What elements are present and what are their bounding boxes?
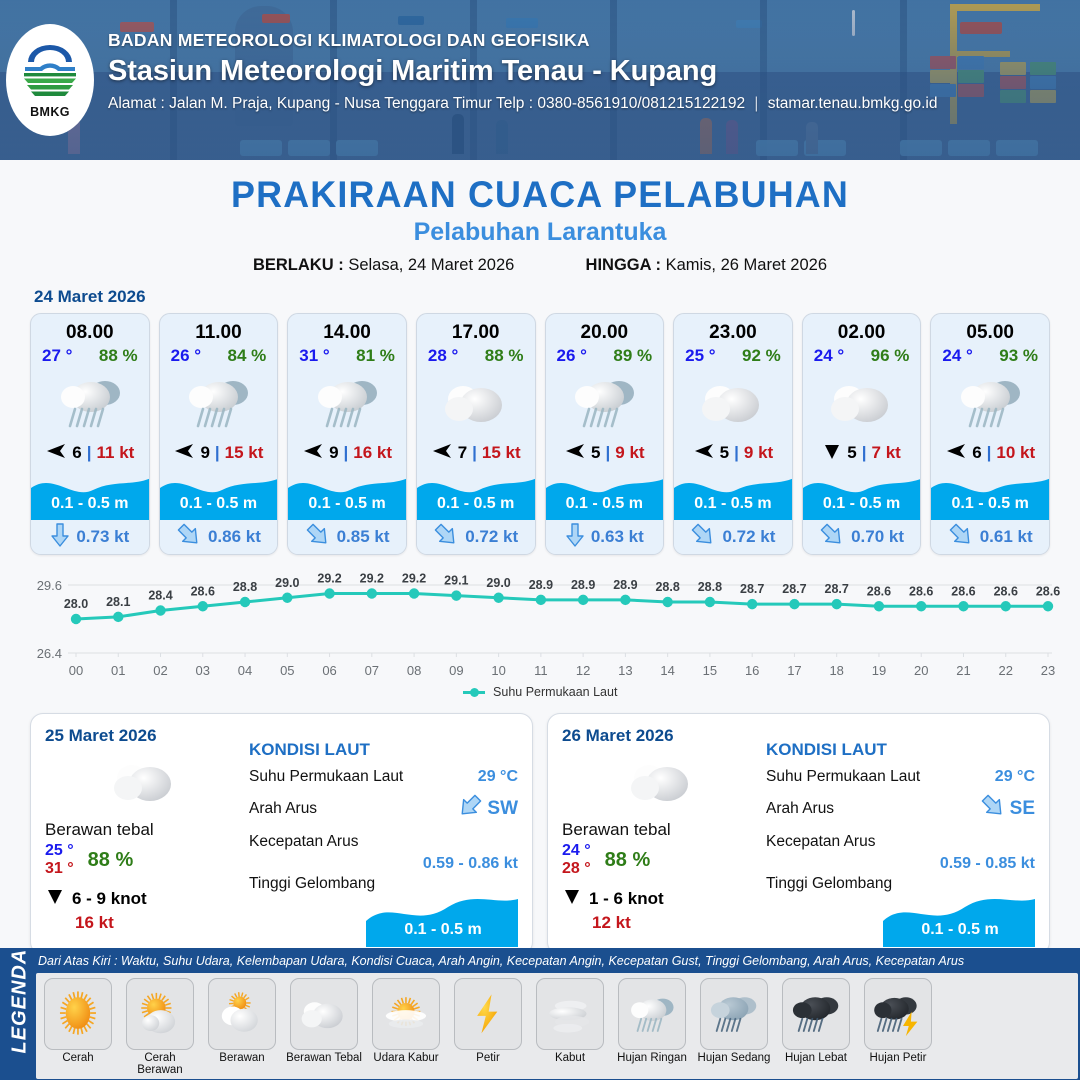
sst-chart: 29.626.428.00028.10128.40228.60328.80429… [18, 565, 1062, 683]
weather-rain-light-icon [546, 368, 664, 436]
card-humidity: 88 % [99, 346, 138, 366]
legend-item: Petir [449, 978, 527, 1076]
station-name: Stasiun Meteorologi Maritim Tenau - Kupa… [108, 55, 937, 88]
gust-speed: 7 kt [872, 443, 901, 463]
wind-direction-arrow-icon [693, 441, 715, 465]
svg-text:28.8: 28.8 [233, 580, 257, 594]
svg-text:28.4: 28.4 [148, 589, 172, 603]
wave-height-label: Tinggi Gelombang [766, 875, 892, 893]
port-name: Pelabuhan Larantuka [0, 218, 1080, 247]
sst-value: 29 °C [995, 768, 1035, 786]
wave-height-value: 0.1 - 0.5 m [885, 921, 1035, 939]
legend-item: Cerah Berawan [121, 978, 199, 1076]
wind-speed: 5 [591, 443, 600, 463]
svg-text:16: 16 [745, 663, 759, 678]
current-speed-label: Kecepatan Arus [766, 833, 875, 851]
current-speed: 0.72 kt [465, 527, 518, 547]
svg-text:29.6: 29.6 [37, 578, 62, 593]
svg-text:29.0: 29.0 [486, 576, 510, 590]
hingga-label: HINGGA : [586, 256, 661, 274]
bmkg-logo-mark [22, 42, 78, 104]
legend-item: Hujan Petir [859, 978, 937, 1076]
svg-text:28.8: 28.8 [698, 580, 722, 594]
wave-height-block: 0.1 - 0.5 m [249, 895, 518, 947]
weather-rain-heavy-icon [782, 978, 850, 1050]
wind-direction-arrow-icon [45, 441, 67, 465]
weather-cloudy-icon [803, 368, 921, 436]
forecast-card[interactable]: 02.00 24 ° 96 % 5 | 7 kt 0.1 - 0.5 m 0.7… [802, 313, 922, 555]
day-gust: 16 kt [75, 913, 245, 933]
wind-speed: 7 [458, 443, 467, 463]
chart-legend: Suhu Permukaan Laut [0, 685, 1080, 699]
card-time: 05.00 [931, 314, 1049, 344]
hingga-value: Kamis, 26 Maret 2026 [666, 256, 827, 274]
svg-text:05: 05 [280, 663, 294, 678]
forecast-card[interactable]: 05.00 24 ° 93 % 6 | 10 kt 0.1 - 0.5 m 0.… [930, 313, 1050, 555]
svg-text:28.1: 28.1 [106, 595, 130, 609]
card-humidity: 93 % [999, 346, 1038, 366]
svg-text:28.0: 28.0 [64, 597, 88, 611]
forecast-card-row: 08.00 27 ° 88 % 6 | 11 kt 0.1 - 0.5 m 0.… [0, 313, 1080, 555]
sst-label: Suhu Permukaan Laut [766, 768, 920, 786]
svg-text:10: 10 [491, 663, 505, 678]
address-text: Alamat : Jalan M. Praja, Kupang - Nusa T… [108, 95, 745, 112]
weather-cloudy-thick-icon [562, 750, 762, 812]
day-condition: Berawan tebal [562, 820, 762, 840]
svg-text:20: 20 [914, 663, 928, 678]
legend-side-label: LEGENDA [0, 948, 36, 1080]
wind-direction-arrow-icon [431, 441, 453, 465]
weather-rain-light-icon [160, 368, 278, 436]
chart-legend-label: Suhu Permukaan Laut [493, 685, 617, 699]
validity-row: BERLAKU : Selasa, 24 Maret 2026 HINGGA :… [0, 256, 1080, 275]
current-direction-arrow-icon [50, 522, 70, 553]
weather-haze-icon [372, 978, 440, 1050]
card-temperature: 26 ° [171, 346, 201, 366]
legend-note: Dari Atas Kiri : Waktu, Suhu Udara, Kele… [36, 948, 1078, 973]
svg-text:14: 14 [660, 663, 674, 678]
wave-height-block: 0.1 - 0.5 m [803, 470, 921, 520]
wind-separator: | [472, 443, 477, 463]
day-condition: Berawan tebal [45, 820, 245, 840]
svg-text:29.0: 29.0 [275, 576, 299, 590]
wind-speed: 9 [200, 443, 209, 463]
wind-direction-arrow-icon [562, 886, 582, 911]
wave-height-value: 0.1 - 0.5 m [546, 495, 664, 513]
weather-rain-thunder-icon [864, 978, 932, 1050]
website-text: stamar.tenau.bmkg.go.id [768, 95, 938, 112]
svg-text:29.2: 29.2 [360, 572, 384, 586]
svg-text:26.4: 26.4 [37, 646, 62, 661]
day-gust: 12 kt [592, 913, 762, 933]
card-humidity: 81 % [356, 346, 395, 366]
wind-speed: 5 [847, 443, 856, 463]
current-direction-arrow-icon [948, 523, 974, 552]
wind-direction-arrow-icon [45, 886, 65, 911]
svg-text:28.9: 28.9 [613, 578, 637, 592]
day-date: 26 Maret 2026 [562, 726, 762, 746]
card-time: 20.00 [546, 314, 664, 344]
forecast-card[interactable]: 14.00 31 ° 81 % 9 | 16 kt 0.1 - 0.5 m 0.… [287, 313, 407, 555]
gust-speed: 9 kt [615, 443, 644, 463]
current-direction-arrow-icon [457, 794, 483, 823]
svg-text:19: 19 [872, 663, 886, 678]
legend-item-label: Berawan [203, 1052, 281, 1064]
wave-height-block: 0.1 - 0.5 m [31, 470, 149, 520]
svg-text:28.6: 28.6 [191, 584, 215, 598]
legend-item-label: Kabut [531, 1052, 609, 1064]
wave-height-block: 0.1 - 0.5 m [417, 470, 535, 520]
legend-bar: LEGENDA Dari Atas Kiri : Waktu, Suhu Uda… [0, 948, 1080, 1080]
daily-summary-panel[interactable]: 25 Maret 2026 Berawan tebal 25 ° 31 ° 88… [30, 713, 533, 955]
svg-text:09: 09 [449, 663, 463, 678]
current-speed: 0.63 kt [591, 527, 644, 547]
weather-fog-icon [536, 978, 604, 1050]
legend-item-label: Petir [449, 1052, 527, 1064]
weather-rain-light-icon [288, 368, 406, 436]
legend-item: Cerah [39, 978, 117, 1076]
address-line: Alamat : Jalan M. Praja, Kupang - Nusa T… [108, 95, 937, 113]
card-time: 17.00 [417, 314, 535, 344]
page-header: BMKG BADAN METEOROLOGI KLIMATOLOGI DAN G… [0, 0, 1080, 160]
current-direction-label: Arah Arus [249, 800, 317, 818]
svg-text:03: 03 [196, 663, 210, 678]
legend-item-label: Hujan Petir [859, 1052, 937, 1064]
wind-speed: 6 [972, 443, 981, 463]
sea-conditions-title: KONDISI LAUT [766, 740, 1035, 760]
wind-separator: | [215, 443, 220, 463]
wave-height-value: 0.1 - 0.5 m [288, 495, 406, 513]
day-temp-min: 25 ° [45, 842, 74, 860]
weather-rain-medium-icon [700, 978, 768, 1050]
svg-text:01: 01 [111, 663, 125, 678]
current-direction-value: SE [1010, 798, 1035, 820]
wind-direction-arrow-icon [302, 441, 324, 465]
current-speed: 0.73 kt [76, 527, 129, 547]
day-humidity: 88 % [605, 849, 651, 872]
card-humidity: 88 % [485, 346, 524, 366]
card-time: 23.00 [674, 314, 792, 344]
svg-text:28.6: 28.6 [1036, 584, 1060, 598]
legend-icon-row: Cerah Cerah Berawan Berawan Berawan Teba… [36, 973, 1078, 1079]
current-direction-value: SW [487, 798, 518, 820]
wave-height-block: 0.1 - 0.5 m [674, 470, 792, 520]
svg-text:06: 06 [322, 663, 336, 678]
day-temp-max: 31 ° [45, 860, 74, 878]
weather-sun-cloud-icon [126, 978, 194, 1050]
wave-height-label: Tinggi Gelombang [249, 875, 375, 893]
wind-direction-arrow-icon [822, 441, 842, 465]
gust-speed: 11 kt [97, 443, 135, 463]
header-text-block: BADAN METEOROLOGI KLIMATOLOGI DAN GEOFIS… [108, 30, 937, 113]
wave-height-value: 0.1 - 0.5 m [368, 921, 518, 939]
legend-item-label: Hujan Lebat [777, 1052, 855, 1064]
forecast-card[interactable]: 08.00 27 ° 88 % 6 | 11 kt 0.1 - 0.5 m 0.… [30, 313, 150, 555]
current-direction-arrow-icon [980, 794, 1006, 823]
svg-text:28.9: 28.9 [529, 578, 553, 592]
svg-text:04: 04 [238, 663, 252, 678]
card-temperature: 24 ° [942, 346, 972, 366]
legend-item: Kabut [531, 978, 609, 1076]
card-time: 14.00 [288, 314, 406, 344]
wind-direction-arrow-icon [173, 441, 195, 465]
weather-sun-icon [44, 978, 112, 1050]
day-wind-range: 1 - 6 knot [589, 889, 664, 909]
daily-summary-row: 25 Maret 2026 Berawan tebal 25 ° 31 ° 88… [0, 699, 1080, 955]
svg-text:13: 13 [618, 663, 632, 678]
card-humidity: 92 % [742, 346, 781, 366]
card-temperature: 28 ° [428, 346, 458, 366]
wave-height-value: 0.1 - 0.5 m [31, 495, 149, 513]
sst-label: Suhu Permukaan Laut [249, 768, 403, 786]
svg-text:28.7: 28.7 [740, 582, 764, 596]
card-time: 02.00 [803, 314, 921, 344]
wind-separator: | [344, 443, 349, 463]
card-temperature: 31 ° [299, 346, 329, 366]
gust-speed: 10 kt [996, 443, 1035, 463]
card-temperature: 26 ° [557, 346, 587, 366]
svg-text:07: 07 [365, 663, 379, 678]
current-speed: 0.85 kt [337, 527, 390, 547]
berlaku-value: Selasa, 24 Maret 2026 [348, 256, 514, 274]
wind-separator: | [606, 443, 611, 463]
current-direction-label: Arah Arus [766, 800, 834, 818]
legend-item: Hujan Lebat [777, 978, 855, 1076]
legend-item-label: Cerah Berawan [121, 1052, 199, 1076]
legend-item: Berawan [203, 978, 281, 1076]
svg-text:22: 22 [999, 663, 1013, 678]
forecast-date: 24 Maret 2026 [34, 287, 1080, 307]
wind-direction-arrow-icon [564, 441, 586, 465]
svg-text:29.2: 29.2 [402, 572, 426, 586]
forecast-card[interactable]: 17.00 28 ° 88 % 7 | 15 kt 0.1 - 0.5 m 0.… [416, 313, 536, 555]
svg-text:23: 23 [1041, 663, 1055, 678]
forecast-card[interactable]: 20.00 26 ° 89 % 5 | 9 kt 0.1 - 0.5 m 0.6… [545, 313, 665, 555]
wind-direction-arrow-icon [945, 441, 967, 465]
wind-speed: 5 [720, 443, 729, 463]
legend-item-label: Udara Kabur [367, 1052, 445, 1064]
svg-text:17: 17 [787, 663, 801, 678]
svg-text:28.6: 28.6 [909, 584, 933, 598]
wind-speed: 6 [72, 443, 81, 463]
current-speed: 0.70 kt [851, 527, 904, 547]
current-direction-arrow-icon [433, 523, 459, 552]
wave-height-value: 0.1 - 0.5 m [160, 495, 278, 513]
day-date: 25 Maret 2026 [45, 726, 245, 746]
card-temperature: 24 ° [814, 346, 844, 366]
bmkg-logo: BMKG [6, 24, 94, 136]
card-temperature: 27 ° [42, 346, 72, 366]
current-speed-value: 0.59 - 0.86 kt [249, 855, 518, 873]
legend-item: Hujan Sedang [695, 978, 773, 1076]
sst-value: 29 °C [478, 768, 518, 786]
svg-text:28.6: 28.6 [994, 584, 1018, 598]
legend-item-label: Hujan Sedang [695, 1052, 773, 1064]
svg-text:28.9: 28.9 [571, 578, 595, 592]
weather-cloudy-icon [674, 368, 792, 436]
gust-speed: 16 kt [353, 443, 392, 463]
card-humidity: 89 % [613, 346, 652, 366]
svg-text:11: 11 [534, 663, 548, 678]
chart-legend-swatch [463, 691, 485, 694]
card-humidity: 84 % [228, 346, 267, 366]
current-direction-arrow-icon [690, 523, 716, 552]
gust-speed: 15 kt [225, 443, 264, 463]
current-direction-arrow-icon [305, 523, 331, 552]
svg-text:29.2: 29.2 [317, 572, 341, 586]
svg-text:02: 02 [153, 663, 167, 678]
wave-height-block: 0.1 - 0.5 m [546, 470, 664, 520]
agency-name: BADAN METEOROLOGI KLIMATOLOGI DAN GEOFIS… [108, 30, 937, 51]
forecast-card[interactable]: 23.00 25 ° 92 % 5 | 9 kt 0.1 - 0.5 m 0.7… [673, 313, 793, 555]
weather-cloudy-thick-icon [45, 750, 245, 812]
wave-height-block: 0.1 - 0.5 m [288, 470, 406, 520]
current-speed: 0.86 kt [208, 527, 261, 547]
weather-rain-light-icon [618, 978, 686, 1050]
page-title: PRAKIRAAN CUACA PELABUHAN [16, 174, 1064, 216]
legend-item: Hujan Ringan [613, 978, 691, 1076]
weather-lightning-icon [454, 978, 522, 1050]
svg-text:28.6: 28.6 [867, 584, 891, 598]
svg-text:28.7: 28.7 [782, 582, 806, 596]
wind-separator: | [862, 443, 867, 463]
wind-speed: 9 [329, 443, 338, 463]
current-speed: 0.61 kt [980, 527, 1033, 547]
card-time: 11.00 [160, 314, 278, 344]
day-temp-min: 24 ° [562, 842, 591, 860]
wind-separator: | [734, 443, 739, 463]
berlaku-label: BERLAKU : [253, 256, 344, 274]
current-direction-arrow-icon [176, 523, 202, 552]
svg-text:28.8: 28.8 [655, 580, 679, 594]
wind-separator: | [987, 443, 992, 463]
day-temp-max: 28 ° [562, 860, 591, 878]
wave-height-value: 0.1 - 0.5 m [674, 495, 792, 513]
weather-cloud-thick-icon [290, 978, 358, 1050]
svg-text:21: 21 [956, 663, 970, 678]
weather-cloudy-icon [417, 368, 535, 436]
legend-item: Berawan Tebal [285, 978, 363, 1076]
weather-rain-light-icon [31, 368, 149, 436]
legend-item-label: Cerah [39, 1052, 117, 1064]
forecast-card[interactable]: 11.00 26 ° 84 % 9 | 15 kt 0.1 - 0.5 m 0.… [159, 313, 279, 555]
sea-conditions-title: KONDISI LAUT [249, 740, 518, 760]
card-humidity: 96 % [871, 346, 910, 366]
wave-height-value: 0.1 - 0.5 m [803, 495, 921, 513]
gust-speed: 9 kt [744, 443, 773, 463]
svg-text:28.7: 28.7 [825, 582, 849, 596]
svg-text:15: 15 [703, 663, 717, 678]
current-speed-label: Kecepatan Arus [249, 833, 358, 851]
card-temperature: 25 ° [685, 346, 715, 366]
legend-item: Udara Kabur [367, 978, 445, 1076]
daily-summary-panel[interactable]: 26 Maret 2026 Berawan tebal 24 ° 28 ° 88… [547, 713, 1050, 955]
wave-height-value: 0.1 - 0.5 m [931, 495, 1049, 513]
weather-cloud-sun-small-icon [208, 978, 276, 1050]
gust-speed: 15 kt [482, 443, 521, 463]
wave-height-block: 0.1 - 0.5 m [931, 470, 1049, 520]
wave-height-block: 0.1 - 0.5 m [160, 470, 278, 520]
day-humidity: 88 % [88, 849, 134, 872]
wave-height-block: 0.1 - 0.5 m [766, 895, 1035, 947]
legend-item-label: Hujan Ringan [613, 1052, 691, 1064]
weather-rain-light-icon [931, 368, 1049, 436]
svg-text:18: 18 [829, 663, 843, 678]
title-section: PRAKIRAAN CUACA PELABUHAN Pelabuhan Lara… [0, 160, 1080, 275]
current-speed-value: 0.59 - 0.85 kt [766, 855, 1035, 873]
svg-text:00: 00 [69, 663, 83, 678]
card-time: 08.00 [31, 314, 149, 344]
bmkg-logo-text: BMKG [30, 105, 70, 119]
current-direction-arrow-icon [565, 522, 585, 553]
svg-text:29.1: 29.1 [444, 574, 468, 588]
wind-separator: | [87, 443, 92, 463]
address-separator: | [749, 95, 763, 112]
current-speed: 0.72 kt [722, 527, 775, 547]
svg-text:28.6: 28.6 [951, 584, 975, 598]
svg-text:12: 12 [576, 663, 590, 678]
legend-item-label: Berawan Tebal [285, 1052, 363, 1064]
current-direction-arrow-icon [819, 523, 845, 552]
day-wind-range: 6 - 9 knot [72, 889, 147, 909]
svg-text:08: 08 [407, 663, 421, 678]
wave-height-value: 0.1 - 0.5 m [417, 495, 535, 513]
